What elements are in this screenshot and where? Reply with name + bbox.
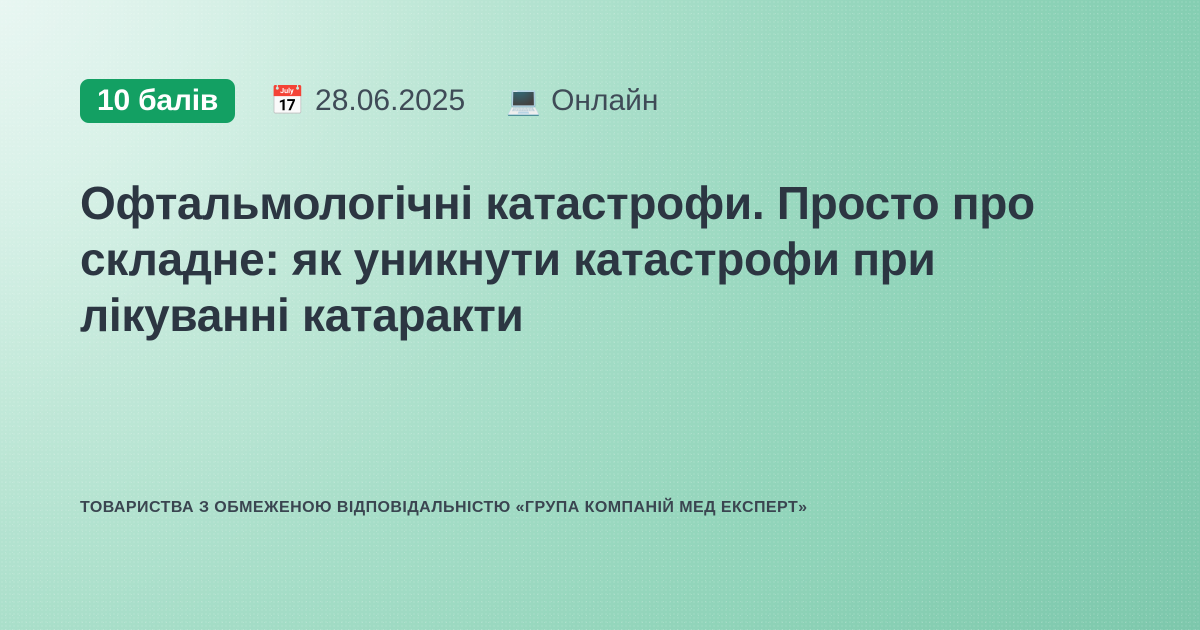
laptop-icon: 💻: [506, 87, 541, 115]
points-badge: 10 балів: [80, 79, 235, 123]
event-date-value: 28.06.2025: [315, 86, 465, 116]
calendar-icon: 📅: [270, 87, 305, 115]
event-format: 💻 Онлайн: [506, 86, 658, 116]
event-format-value: Онлайн: [551, 86, 658, 116]
event-promo-card: 10 балів 📅 28.06.2025 💻 Онлайн Офтальмол…: [0, 0, 1200, 630]
organiser-name: Товариства з обмеженою відповідальністю …: [80, 496, 960, 519]
event-date: 📅 28.06.2025: [270, 86, 465, 116]
event-meta-row: 10 балів 📅 28.06.2025 💻 Онлайн: [80, 79, 1120, 123]
page-title: Офтальмологічні катастрофи. Просто про с…: [80, 123, 1110, 343]
